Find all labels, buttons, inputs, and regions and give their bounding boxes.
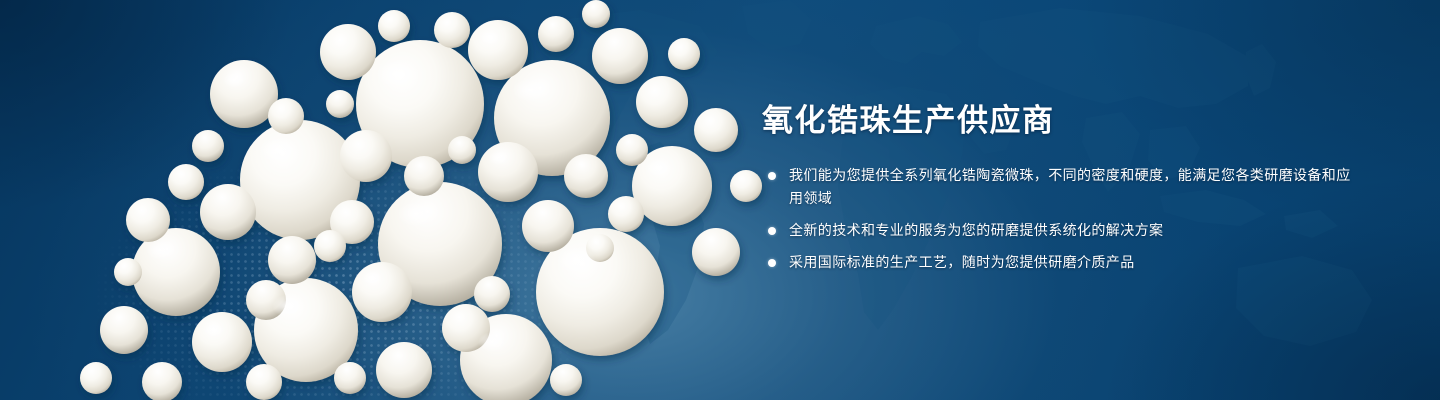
page-title: 氧化锆珠生产供应商	[762, 104, 1362, 138]
list-item: 采用国际标准的生产工艺，随时为您提供研磨介质产品	[762, 251, 1362, 274]
bullet-dot-icon	[768, 172, 776, 180]
feature-list: 我们能为您提供全系列氧化锆陶瓷微珠，不同的密度和硬度，能满足您各类研磨设备和应用…	[762, 164, 1362, 274]
zirconia-beads-image	[0, 0, 760, 400]
banner-content: 氧化锆珠生产供应商 我们能为您提供全系列氧化锆陶瓷微珠，不同的密度和硬度，能满足…	[762, 104, 1362, 274]
list-item-label: 我们能为您提供全系列氧化锆陶瓷微珠，不同的密度和硬度，能满足您各类研磨设备和应用…	[789, 164, 1362, 210]
bullet-dot-icon	[768, 259, 776, 267]
list-item: 全新的技术和专业的服务为您的研磨提供系统化的解决方案	[762, 219, 1362, 242]
list-item-label: 采用国际标准的生产工艺，随时为您提供研磨介质产品	[789, 251, 1362, 274]
hero-banner: 氧化锆珠生产供应商 我们能为您提供全系列氧化锆陶瓷微珠，不同的密度和硬度，能满足…	[0, 0, 1440, 400]
list-item: 我们能为您提供全系列氧化锆陶瓷微珠，不同的密度和硬度，能满足您各类研磨设备和应用…	[762, 164, 1362, 210]
list-item-label: 全新的技术和专业的服务为您的研磨提供系统化的解决方案	[789, 219, 1362, 242]
bullet-dot-icon	[768, 227, 776, 235]
